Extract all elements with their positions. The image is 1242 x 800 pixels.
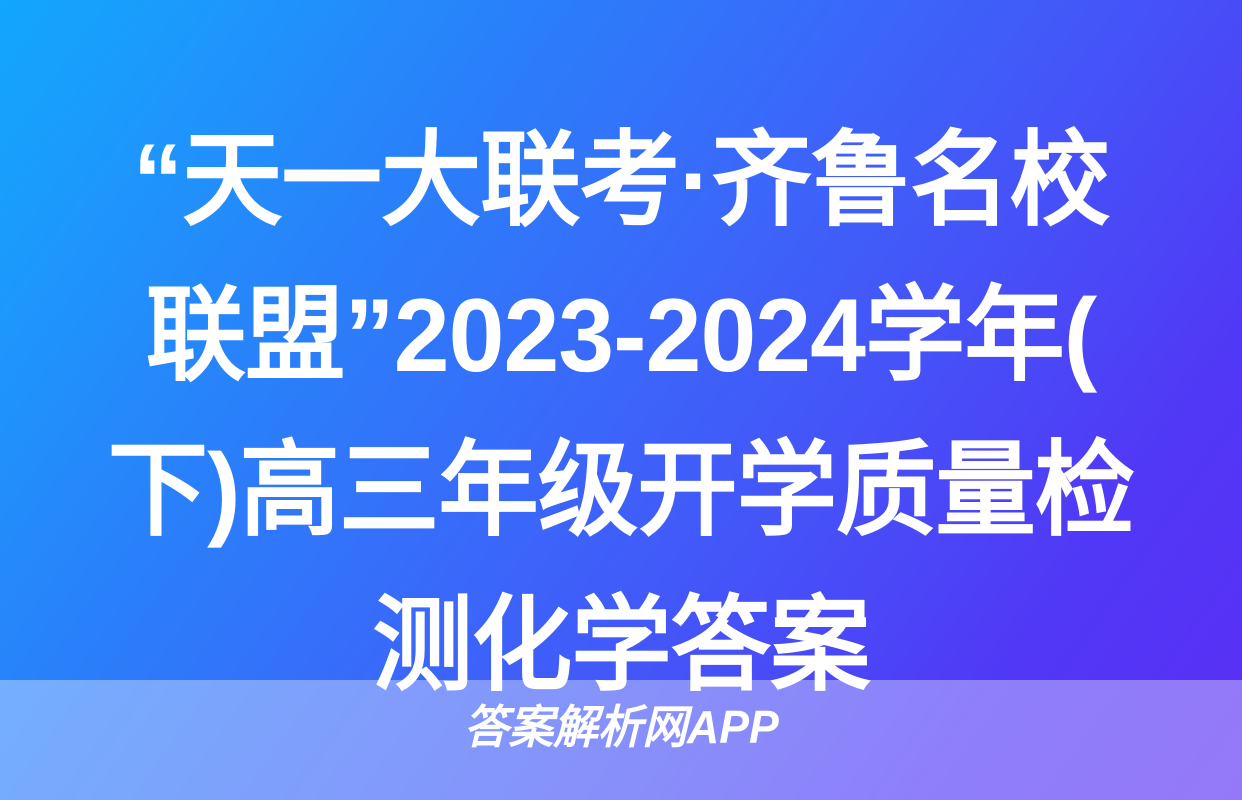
page-title: “天一大联考·齐鲁名校 联盟”2023-2024学年( 下)高三年级开学质量检 … — [0, 104, 1242, 724]
title-line-3: 下)高三年级开学质量检 — [80, 414, 1163, 569]
watermark-bar: 答案解析网APP — [0, 680, 1242, 800]
title-line-2: 联盟”2023-2024学年( — [80, 259, 1163, 414]
watermark-label: 答案解析网APP — [464, 700, 779, 754]
title-line-1: “天一大联考·齐鲁名校 — [80, 104, 1163, 259]
cover-image: “天一大联考·齐鲁名校 联盟”2023-2024学年( 下)高三年级开学质量检 … — [0, 0, 1242, 800]
